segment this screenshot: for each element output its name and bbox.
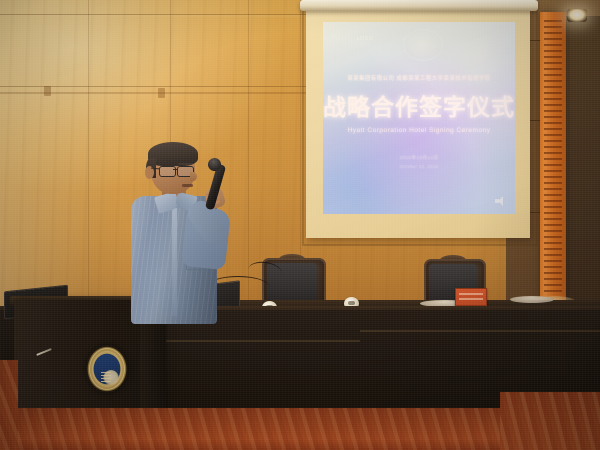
name-placard xyxy=(455,288,487,306)
carpet-right-strip xyxy=(500,392,600,450)
placard-text-line xyxy=(459,298,483,300)
speaker-at-podium xyxy=(118,142,236,322)
speaker-eyebrow xyxy=(178,163,192,165)
slide-logo-text: LOGO xyxy=(357,36,374,42)
slide-subtitle: Hyatt Corporation Hotel Signing Ceremony xyxy=(323,127,515,134)
orange-slatted-column xyxy=(540,12,566,300)
slide-date-english: October 12, 2016 xyxy=(323,164,515,169)
placard-text-line xyxy=(459,293,483,295)
emblem-field xyxy=(94,354,120,384)
eyeglasses-left-lens xyxy=(159,166,176,177)
table-plate xyxy=(510,296,554,303)
microphone-base-detail xyxy=(348,301,355,305)
speaker-mouth xyxy=(182,184,193,187)
slide-main-title: 战略合作签字仪式 xyxy=(323,88,515,122)
ceiling-downlight-icon xyxy=(567,9,587,22)
panel-clip xyxy=(44,86,51,96)
speaker-icon-cone xyxy=(498,196,503,206)
presentation-slide: LOGO 某某集团有限公司 成都某某工程大学某某技术管理学院 战略合作签字仪式 … xyxy=(323,22,515,214)
conference-photo: LOGO 某某集团有限公司 成都某某工程大学某某技术管理学院 战略合作签字仪式 … xyxy=(0,0,600,450)
stage-groove xyxy=(360,330,600,332)
carpet-left-strip xyxy=(0,360,18,450)
emblem-wordmark xyxy=(101,372,111,384)
slide-date-chinese: 2016年10月12日 xyxy=(323,155,515,161)
wall-seam xyxy=(88,0,89,330)
projection-screen-roller xyxy=(300,0,538,11)
slide-organization-line: 某某集团有限公司 成都某某工程大学某某技术管理学院 xyxy=(323,74,515,82)
slide-logo-mark xyxy=(403,29,443,61)
panel-clip xyxy=(158,88,165,98)
right-wall-dark-panel xyxy=(566,16,600,316)
eyeglasses-bridge xyxy=(173,169,178,170)
column-slats xyxy=(544,16,562,296)
podium-crest-emblem xyxy=(86,345,128,393)
shirt-placket xyxy=(172,208,177,316)
speaker-audio-icon xyxy=(495,196,506,206)
speaker-nose xyxy=(190,172,197,181)
